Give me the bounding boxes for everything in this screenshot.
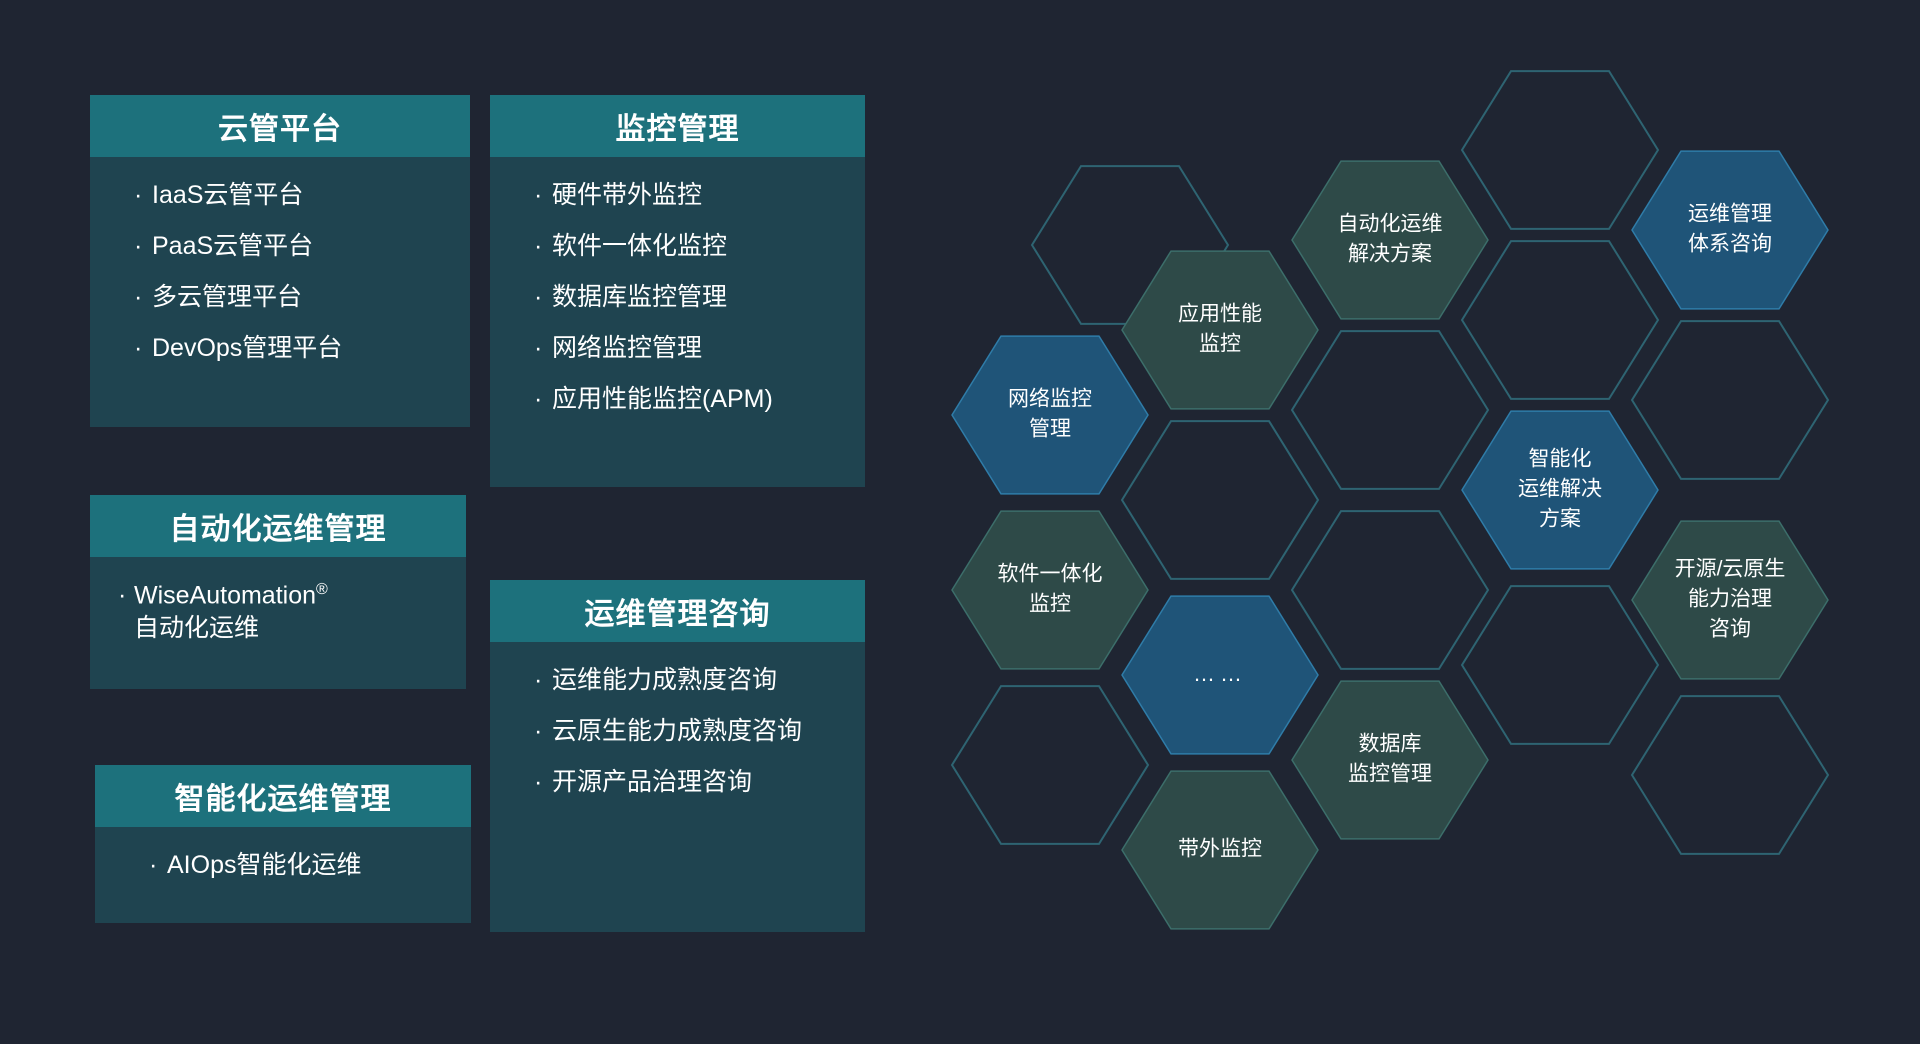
hex-opensource-consult-label: 咨询: [1709, 618, 1751, 641]
list-item[interactable]: ·开源产品治理咨询: [490, 766, 865, 799]
list-item[interactable]: ·数据库监控管理: [490, 281, 865, 314]
hex-network-monitoring-shape: [952, 336, 1148, 494]
bullet-icon: ·: [534, 179, 542, 212]
hex-empty-3-shape: [1462, 241, 1658, 399]
hex-opensource-consult[interactable]: 开源/云原生能力治理咨询: [1632, 521, 1828, 679]
bullet-icon: ·: [534, 230, 542, 263]
hex-empty-9: [1632, 321, 1828, 479]
card-intelligent-ops[interactable]: 智能化运维管理 ·AIOps智能化运维: [95, 765, 471, 923]
list-item-label: DevOps管理平台: [152, 334, 342, 362]
hex-network-monitoring-label: 管理: [1029, 418, 1071, 441]
hex-db-monitoring-label: 监控管理: [1348, 763, 1432, 786]
bullet-icon: ·: [534, 383, 542, 416]
card-intelligent-ops-list: ·AIOps智能化运维: [95, 849, 471, 882]
card-ops-consulting-title: 运维管理咨询: [490, 580, 865, 642]
card-automation-ops-title: 自动化运维管理: [90, 495, 466, 557]
hex-software-monitoring[interactable]: 软件一体化监控: [952, 511, 1148, 669]
list-item-label-line2: 自动化运维: [134, 614, 259, 642]
hex-opensource-consult-label: 能力治理: [1688, 588, 1772, 611]
hex-empty-2-shape: [1462, 71, 1658, 229]
hex-auto-solution-label: 自动化运维: [1338, 213, 1443, 236]
card-monitoring-management-body: ·硬件带外监控 ·软件一体化监控 ·数据库监控管理 ·网络监控管理 ·应用性能监…: [490, 157, 865, 487]
card-automation-ops-body: ·WiseAutomation®自动化运维: [90, 557, 466, 689]
list-item[interactable]: ·软件一体化监控: [490, 230, 865, 263]
hex-auto-solution[interactable]: 自动化运维解决方案: [1292, 161, 1488, 319]
hex-ops-consult-label: 运维管理: [1688, 203, 1772, 226]
hex-outband-monitoring-label: 带外监控: [1178, 838, 1262, 861]
list-item[interactable]: ·IaaS云管平台: [90, 179, 470, 212]
hex-db-monitoring[interactable]: 数据库监控管理: [1292, 681, 1488, 839]
hex-empty-10-shape: [1632, 696, 1828, 854]
list-item-label: IaaS云管平台: [152, 181, 303, 209]
hex-empty-6-shape: [952, 686, 1148, 844]
hex-ops-consult-shape: [1632, 151, 1828, 309]
card-cloud-platform-title: 云管平台: [90, 95, 470, 157]
hexagon-grid-svg: 网络监控管理应用性能监控自动化运维解决方案运维管理体系咨询软件一体化监控……带外…: [930, 0, 1920, 1044]
hex-empty-4: [1292, 331, 1488, 489]
card-cloud-platform-list: ·IaaS云管平台 ·PaaS云管平台 ·多云管理平台 ·DevOps管理平台: [90, 179, 470, 365]
list-item[interactable]: ·WiseAutomation®自动化运维: [90, 579, 466, 645]
registered-trademark-icon: ®: [316, 581, 328, 598]
hex-empty-8: [1462, 586, 1658, 744]
hex-empty-5: [1122, 421, 1318, 579]
hex-software-monitoring-shape: [952, 511, 1148, 669]
card-ops-consulting-list: ·运维能力成熟度咨询 ·云原生能力成熟度咨询 ·开源产品治理咨询: [490, 664, 865, 799]
hex-network-monitoring[interactable]: 网络监控管理: [952, 336, 1148, 494]
hex-db-monitoring-shape: [1292, 681, 1488, 839]
card-monitoring-management[interactable]: 监控管理 ·硬件带外监控 ·软件一体化监控 ·数据库监控管理 ·网络监控管理 ·…: [490, 95, 865, 487]
bullet-icon: ·: [534, 664, 542, 697]
card-automation-ops-list: ·WiseAutomation®自动化运维: [90, 579, 466, 645]
hex-empty-2: [1462, 71, 1658, 229]
bullet-icon: ·: [134, 179, 142, 212]
hex-ellipsis[interactable]: ……: [1122, 596, 1318, 754]
bullet-icon: ·: [134, 281, 142, 314]
list-item-label: 多云管理平台: [152, 283, 302, 311]
list-item-label: 软件一体化监控: [552, 232, 727, 260]
hex-apm-shape: [1122, 251, 1318, 409]
bullet-icon: ·: [134, 230, 142, 263]
hex-ops-consult-label: 体系咨询: [1688, 233, 1772, 256]
hex-empty-4-shape: [1292, 331, 1488, 489]
card-monitoring-management-list: ·硬件带外监控 ·软件一体化监控 ·数据库监控管理 ·网络监控管理 ·应用性能监…: [490, 179, 865, 416]
list-item-label: 数据库监控管理: [552, 283, 727, 311]
hex-network-monitoring-label: 网络监控: [1008, 388, 1092, 411]
list-item[interactable]: ·应用性能监控(APM): [490, 383, 865, 416]
bullet-icon: ·: [118, 579, 126, 612]
card-ops-consulting[interactable]: 运维管理咨询 ·运维能力成熟度咨询 ·云原生能力成熟度咨询 ·开源产品治理咨询: [490, 580, 865, 932]
list-item-label: 网络监控管理: [552, 334, 702, 362]
card-cloud-platform[interactable]: 云管平台 ·IaaS云管平台 ·PaaS云管平台 ·多云管理平台 ·DevOps…: [90, 95, 470, 427]
hex-apm-label: 监控: [1199, 333, 1241, 356]
list-item-label: WiseAutomation: [134, 581, 316, 609]
card-intelligent-ops-body: ·AIOps智能化运维: [95, 827, 471, 923]
hexagon-diagram: 网络监控管理应用性能监控自动化运维解决方案运维管理体系咨询软件一体化监控……带外…: [930, 0, 1920, 1044]
card-automation-ops[interactable]: 自动化运维管理 ·WiseAutomation®自动化运维: [90, 495, 466, 689]
list-item[interactable]: ·硬件带外监控: [490, 179, 865, 212]
hex-software-monitoring-label: 监控: [1029, 593, 1071, 616]
hex-opensource-consult-label: 开源/云原生: [1675, 558, 1786, 581]
cards-panel: 云管平台 ·IaaS云管平台 ·PaaS云管平台 ·多云管理平台 ·DevOps…: [0, 0, 890, 1044]
list-item[interactable]: ·多云管理平台: [90, 281, 470, 314]
bullet-icon: ·: [534, 766, 542, 799]
hex-empty-7: [1292, 511, 1488, 669]
list-item-label: 云原生能力成熟度咨询: [552, 717, 802, 745]
hex-db-monitoring-label: 数据库: [1359, 733, 1422, 756]
hex-aiops-solution-label: 方案: [1539, 508, 1581, 531]
list-item-label: 开源产品治理咨询: [552, 768, 752, 796]
hex-aiops-solution-label: 运维解决: [1518, 478, 1602, 501]
bullet-icon: ·: [149, 849, 157, 882]
hex-empty-8-shape: [1462, 586, 1658, 744]
hex-apm[interactable]: 应用性能监控: [1122, 251, 1318, 409]
hex-auto-solution-shape: [1292, 161, 1488, 319]
bullet-icon: ·: [534, 715, 542, 748]
list-item[interactable]: ·PaaS云管平台: [90, 230, 470, 263]
bullet-icon: ·: [534, 332, 542, 365]
hex-empty-9-shape: [1632, 321, 1828, 479]
list-item[interactable]: ·DevOps管理平台: [90, 332, 470, 365]
hex-auto-solution-label: 解决方案: [1348, 243, 1432, 266]
list-item-label: AIOps智能化运维: [167, 851, 361, 879]
list-item-label: 运维能力成熟度咨询: [552, 666, 777, 694]
hex-empty-6: [952, 686, 1148, 844]
card-intelligent-ops-title: 智能化运维管理: [95, 765, 471, 827]
bullet-icon: ·: [534, 281, 542, 314]
hex-aiops-solution[interactable]: 智能化运维解决方案: [1462, 411, 1658, 569]
hex-empty-3: [1462, 241, 1658, 399]
hex-ellipsis-label: ……: [1193, 661, 1247, 686]
list-item[interactable]: ·AIOps智能化运维: [95, 849, 471, 882]
list-item-label: 应用性能监控(APM): [552, 385, 773, 413]
hex-empty-5-shape: [1122, 421, 1318, 579]
bullet-icon: ·: [134, 332, 142, 365]
list-item[interactable]: ·云原生能力成熟度咨询: [490, 715, 865, 748]
hex-empty-7-shape: [1292, 511, 1488, 669]
hex-empty-10: [1632, 696, 1828, 854]
hex-apm-label: 应用性能: [1178, 303, 1262, 326]
hex-software-monitoring-label: 软件一体化: [998, 563, 1103, 586]
hex-outband-monitoring[interactable]: 带外监控: [1122, 771, 1318, 929]
list-item-label: PaaS云管平台: [152, 232, 313, 260]
list-item[interactable]: ·运维能力成熟度咨询: [490, 664, 865, 697]
hex-aiops-solution-label: 智能化: [1529, 448, 1592, 471]
list-item[interactable]: ·网络监控管理: [490, 332, 865, 365]
card-ops-consulting-body: ·运维能力成熟度咨询 ·云原生能力成熟度咨询 ·开源产品治理咨询: [490, 642, 865, 932]
card-cloud-platform-body: ·IaaS云管平台 ·PaaS云管平台 ·多云管理平台 ·DevOps管理平台: [90, 157, 470, 427]
list-item-label: 硬件带外监控: [552, 181, 702, 209]
card-monitoring-management-title: 监控管理: [490, 95, 865, 157]
hex-ops-consult[interactable]: 运维管理体系咨询: [1632, 151, 1828, 309]
